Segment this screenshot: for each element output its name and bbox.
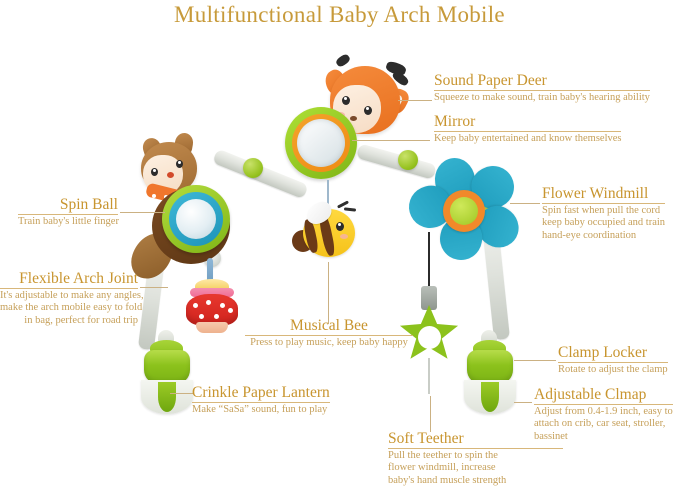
bee-eye-highlight xyxy=(338,223,341,226)
infographic-canvas: Multifunctional Baby Arch Mobile xyxy=(0,0,679,491)
callout-rule-adjustable-clamp xyxy=(534,404,673,405)
callout-rule-musical-bee xyxy=(245,335,413,336)
callout-rule-clamp-locker xyxy=(558,362,668,363)
arch-bar-right-upper xyxy=(356,143,437,179)
leader-adjustable-clamp xyxy=(514,402,532,403)
clamp-left-body xyxy=(144,350,190,384)
lantern-dot-2 xyxy=(206,300,211,305)
callout-title-flexible-arch-joint: Flexible Arch Joint xyxy=(0,270,138,287)
callout-title-mirror: Mirror xyxy=(434,113,621,130)
callout-title-crinkle-paper-lantern: Crinkle Paper Lantern xyxy=(192,384,330,401)
callout-rule-sound-paper-deer xyxy=(434,90,650,91)
callout-desc-flower-windmill-1: keep baby occupied and train xyxy=(542,217,665,229)
teether-cord-lower xyxy=(428,358,430,394)
callout-desc-flexible-arch-joint-2: in bag, perfect for road trip xyxy=(0,315,138,327)
callout-title-flower-windmill: Flower Windmill xyxy=(542,185,665,202)
leader-flexible-arch-joint xyxy=(140,287,168,288)
arch-joint-apex-left xyxy=(243,158,263,178)
callout-desc-sound-paper-deer-0: Squeeze to make sound, train baby's hear… xyxy=(434,92,650,104)
leader-flower-windmill xyxy=(510,203,540,204)
squirrel-scarf-dot-1 xyxy=(152,194,156,198)
clamp-right-jaw-inner xyxy=(481,382,499,412)
lantern-dot-1 xyxy=(193,303,198,308)
teether-cord-upper xyxy=(428,232,430,288)
callout-crinkle-paper-lantern: Crinkle Paper Lantern Make “SaSa” sound,… xyxy=(192,384,330,416)
leader-mirror xyxy=(352,140,430,141)
callout-rule-mirror xyxy=(434,131,621,132)
callout-soft-teether: Soft Teether Pull the teether to spin th… xyxy=(388,430,563,487)
callout-desc-adjustable-clamp-0: Adjust from 0.4-1.9 inch, easy to xyxy=(534,406,673,418)
clamp-left-jaw-inner xyxy=(158,382,176,412)
lantern-dot-6 xyxy=(228,308,233,313)
lantern-base xyxy=(196,322,228,333)
bee-cord xyxy=(327,180,329,204)
leader-sound-paper-deer xyxy=(398,100,432,101)
mirror-glass xyxy=(297,119,345,167)
callout-title-musical-bee: Musical Bee xyxy=(245,317,413,334)
callout-title-spin-ball: Spin Ball xyxy=(18,196,118,213)
callout-desc-flower-windmill-0: Spin fast when pull the cord xyxy=(542,205,665,217)
teether-hole xyxy=(418,326,441,349)
callout-desc-soft-teether-1: flower windmill, increase xyxy=(388,462,563,474)
callout-desc-soft-teether-2: baby's hand muscle strength xyxy=(388,475,563,487)
bee-antenna-right xyxy=(344,207,356,211)
leader-crinkle-paper-lantern xyxy=(170,393,194,394)
callout-flexible-arch-joint: Flexible Arch Joint It's adjustable to m… xyxy=(0,270,138,327)
callout-desc-musical-bee-0: Press to play music, keep baby happy xyxy=(245,337,413,349)
callout-rule-soft-teether xyxy=(388,448,563,449)
windmill-hub xyxy=(450,197,478,225)
callout-musical-bee: Musical Bee Press to play music, keep ba… xyxy=(245,317,413,349)
leader-clamp-locker xyxy=(514,360,556,361)
callout-desc-adjustable-clamp-1: attach on crib, car seat, stroller, xyxy=(534,418,673,430)
callout-mirror: Mirror Keep baby entertained and know th… xyxy=(434,113,621,145)
deer-eye-right-highlight xyxy=(366,107,369,110)
callout-flower-windmill: Flower Windmill Spin fast when pull the … xyxy=(542,185,665,242)
leader-musical-bee xyxy=(328,262,329,324)
callout-desc-spin-ball-0: Train baby's little finger xyxy=(18,216,118,228)
lantern-dot-5 xyxy=(214,314,219,319)
callout-title-soft-teether: Soft Teether xyxy=(388,430,563,447)
squirrel-nose xyxy=(167,172,174,178)
callout-rule-flexible-arch-joint xyxy=(0,288,138,289)
callout-spin-ball: Spin Ball Train baby's little finger xyxy=(18,196,118,228)
deer-nose xyxy=(350,116,357,121)
callout-clamp-locker: Clamp Locker Rotate to adjust the clamp xyxy=(558,344,668,376)
clamp-right-body xyxy=(467,350,513,384)
callout-rule-flower-windmill xyxy=(542,203,665,204)
arch-joint-apex-right xyxy=(398,150,418,170)
lantern-dot-4 xyxy=(199,314,204,319)
callout-desc-soft-teether-0: Pull the teether to spin the xyxy=(388,450,563,462)
bee-cheek xyxy=(340,234,348,239)
squirrel-eye-right-highlight xyxy=(178,161,181,164)
callout-title-sound-paper-deer: Sound Paper Deer xyxy=(434,72,650,89)
callout-desc-clamp-locker-0: Rotate to adjust the clamp xyxy=(558,364,668,376)
callout-desc-flexible-arch-joint-1: make the arch mobile easy to fold xyxy=(0,302,138,314)
callout-rule-crinkle-paper-lantern xyxy=(192,402,330,403)
callout-rule-spin-ball xyxy=(18,214,118,215)
leader-spin-ball xyxy=(120,212,165,213)
callout-desc-flower-windmill-2: hand-eye coordination xyxy=(542,230,665,242)
deer-eye-left-highlight xyxy=(344,97,347,100)
lantern-dot-3 xyxy=(220,303,225,308)
leader-soft-teether xyxy=(430,396,431,432)
callout-desc-flexible-arch-joint-0: It's adjustable to make any angles, xyxy=(0,290,138,302)
callout-sound-paper-deer: Sound Paper Deer Squeeze to make sound, … xyxy=(434,72,650,104)
deer-antler-left xyxy=(335,53,352,68)
callout-desc-crinkle-paper-lantern-0: Make “SaSa” sound, fun to play xyxy=(192,404,330,416)
callout-title-adjustable-clamp: Adjustable Clmap xyxy=(534,386,673,403)
callout-desc-mirror-0: Keep baby entertained and know themselve… xyxy=(434,133,621,145)
callout-title-clamp-locker: Clamp Locker xyxy=(558,344,668,361)
squirrel-eye-left-highlight xyxy=(153,169,156,172)
spin-ball-inner xyxy=(176,199,216,239)
